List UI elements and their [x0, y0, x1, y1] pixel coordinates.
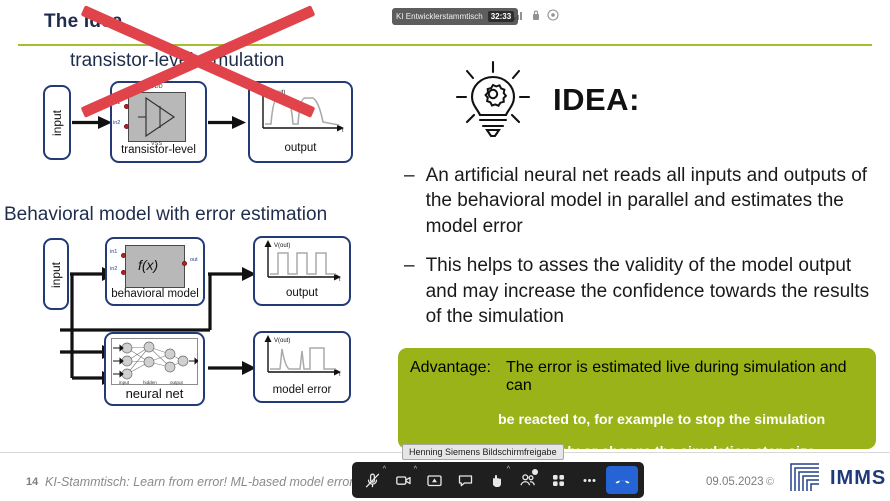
chevron-up-icon[interactable]: ^ [507, 466, 510, 473]
svg-text:hidden: hidden [143, 380, 157, 385]
idea-header: IDEA: [455, 60, 640, 140]
output-box-bottom-label: output [253, 287, 351, 299]
svg-text:t: t [339, 372, 341, 378]
screen-share-window: The Idea transistor-level simulation inp… [0, 0, 890, 501]
bullet-item: – This helps to asses the validity of th… [404, 253, 884, 329]
svg-text:t: t [339, 277, 341, 283]
hangup-button[interactable] [606, 466, 638, 494]
lock-icon[interactable] [530, 9, 542, 21]
chevron-up-icon[interactable]: ^ [414, 466, 417, 473]
svg-text:t: t [342, 128, 344, 134]
pin-in2-top-label: in2 [113, 120, 120, 126]
advantage-label: Advantage: [410, 359, 491, 395]
advantage-line-1: The error is estimated live during simul… [506, 359, 862, 395]
hangup-icon [613, 471, 632, 490]
output-box-top-label: output [248, 142, 353, 154]
people-badge [532, 469, 538, 475]
chat-icon [457, 472, 474, 489]
bullet-text: This helps to asses the validity of the … [426, 253, 884, 329]
behavioral-diagram-heading: Behavioral model with error estimation [4, 204, 327, 226]
apps-button[interactable] [544, 466, 573, 494]
people-button[interactable] [513, 466, 542, 494]
record-icon[interactable] [547, 9, 559, 21]
imms-wordmark: IMMS [830, 467, 886, 490]
pin-in2-bottom [121, 270, 126, 275]
meeting-status-icons [513, 9, 559, 21]
copyright-symbol: © [766, 476, 774, 488]
pin-in1-top [124, 104, 129, 109]
share-screen-icon [426, 472, 443, 489]
svg-text:input: input [119, 380, 130, 385]
share-screen-button[interactable] [420, 466, 449, 494]
advantage-first-line: Advantage: The error is estimated live d… [410, 359, 862, 395]
neural-net-box-label: neural net [104, 386, 205, 401]
output-waveform-bottom: V(out) t [258, 239, 348, 287]
transistor-model-box-label: transistor-level [110, 144, 207, 156]
behavioral-model-box-label: behavioral model [105, 288, 205, 300]
svg-text:V(out): V(out) [274, 243, 290, 249]
meeting-timer: 32:33 [488, 11, 514, 22]
bullet-text: An artificial neural net reads all input… [426, 163, 884, 239]
meeting-info-pill[interactable]: KI Entwicklerstammtisch 32:33 [392, 8, 518, 25]
advantage-line-2: be reacted to, for example to stop the s… [410, 413, 862, 427]
pin-in2-top [124, 124, 129, 129]
model-error-box-label: model error [253, 384, 351, 396]
bullet-dash: – [404, 163, 415, 239]
microphone-muted-icon [364, 472, 381, 489]
chevron-up-icon[interactable]: ^ [383, 466, 386, 473]
apps-grid-icon [550, 472, 567, 489]
microphone-muted-button[interactable]: ^ [358, 466, 387, 494]
signal-icon[interactable] [513, 9, 525, 21]
footer-title: KI-Stammtisch: Learn from error! ML-base… [45, 475, 353, 489]
model-error-waveform: V(out) t [258, 334, 348, 382]
imms-logo-icon [788, 460, 822, 494]
svg-text:output: output [170, 380, 183, 385]
advantage-callout: Advantage: The error is estimated live d… [398, 348, 876, 449]
lightbulb-gear-icon [455, 60, 531, 140]
reactions-button[interactable]: ^ [482, 466, 511, 494]
neural-net-icon: input hidden output [111, 338, 198, 385]
pin-in1-bottom [121, 253, 126, 258]
idea-bullet-list: – An artificial neural net reads all inp… [404, 163, 884, 344]
footer-date: 09.05.2023 [706, 476, 764, 488]
arrow-input-to-model-top [72, 114, 112, 131]
more-options-button[interactable] [575, 466, 604, 494]
pin-out-bottom [182, 261, 187, 266]
more-options-icon [581, 472, 598, 489]
meeting-control-bar: ^ ^ ^ [352, 462, 644, 498]
behavioral-model-diagram: Behavioral model with error estimation i… [0, 198, 400, 428]
pin-out-bottom-label: out [190, 257, 198, 263]
bullet-item: – An artificial neural net reads all inp… [404, 163, 884, 239]
camera-icon [395, 472, 412, 489]
bullet-dash: – [404, 253, 415, 329]
arrow-model-to-output-top [208, 114, 246, 131]
svg-text:V(out): V(out) [274, 338, 290, 344]
chat-button[interactable] [451, 466, 480, 494]
transistor-level-diagram: transistor-level simulation input in1 in… [0, 48, 400, 183]
raise-hand-icon [488, 472, 505, 489]
transistor-symbol-icon [128, 92, 186, 142]
input-box-top-label: input [50, 100, 64, 146]
pin-in2-bottom-label: in2 [110, 266, 117, 272]
camera-button[interactable]: ^ [389, 466, 418, 494]
behavioral-fx-label: f(x) [138, 257, 158, 273]
pin-in1-bottom-label: in1 [110, 249, 117, 255]
meeting-name: KI Entwicklerstammtisch [396, 12, 483, 21]
slide-page-number: 14 [26, 476, 38, 488]
presentation-slide: The Idea transistor-level simulation inp… [0, 0, 890, 501]
screen-share-tooltip: Henning Siemens Bildschirmfreigabe [402, 444, 564, 460]
idea-heading: IDEA: [553, 82, 640, 118]
